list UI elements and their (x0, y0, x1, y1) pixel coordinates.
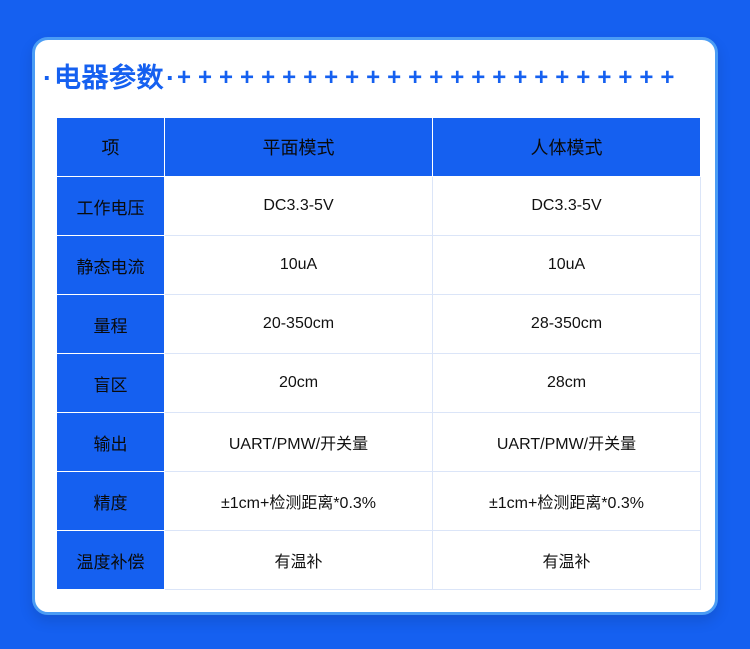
plus-icon: + (261, 66, 275, 90)
table-header-row: 项 平面模式 人体模式 (57, 118, 701, 177)
plus-icon: + (345, 66, 359, 90)
row-label-cell: 精度 (57, 472, 165, 531)
table-row: 量程20-350cm28-350cm (57, 295, 701, 354)
table-row: 温度补偿有温补有温补 (57, 531, 701, 590)
table-row: 工作电压DC3.3-5VDC3.3-5V (57, 177, 701, 236)
plus-icon: + (660, 66, 674, 90)
human-mode-value-cell: 28cm (433, 354, 701, 413)
plus-icon: + (429, 66, 443, 90)
human-mode-value-cell: ±1cm+检测距离*0.3% (433, 472, 701, 531)
plus-icon: + (198, 66, 212, 90)
column-header-item: 项 (57, 118, 165, 177)
human-mode-value-cell: DC3.3-5V (433, 177, 701, 236)
plane-mode-value-cell: 20-350cm (165, 295, 433, 354)
plus-decoration-strip: ++++++++++++++++++++++++ (177, 66, 715, 90)
table-row: 静态电流10uA10uA (57, 236, 701, 295)
human-mode-value-cell: UART/PMW/开关量 (433, 413, 701, 472)
human-mode-value-cell: 28-350cm (433, 295, 701, 354)
plane-mode-value-cell: 有温补 (165, 531, 433, 590)
human-mode-value-cell: 有温补 (433, 531, 701, 590)
plus-icon: + (513, 66, 527, 90)
plus-icon: + (597, 66, 611, 90)
row-label-cell: 静态电流 (57, 236, 165, 295)
card-title-row: · 电器参数 · ++++++++++++++++++++++++ (35, 58, 715, 98)
table-row: 盲区20cm28cm (57, 354, 701, 413)
plus-icon: + (219, 66, 233, 90)
plus-icon: + (282, 66, 296, 90)
plus-icon: + (387, 66, 401, 90)
plus-icon: + (177, 66, 191, 90)
row-label-cell: 量程 (57, 295, 165, 354)
column-header-plane-mode: 平面模式 (165, 118, 433, 177)
plane-mode-value-cell: 20cm (165, 354, 433, 413)
spec-table-body: 项 平面模式 人体模式 工作电压DC3.3-5VDC3.3-5V静态电流10uA… (57, 118, 701, 590)
table-row: 输出UART/PMW/开关量UART/PMW/开关量 (57, 413, 701, 472)
plus-icon: + (240, 66, 254, 90)
page-title: 电器参数 (54, 65, 164, 92)
plus-icon: + (534, 66, 548, 90)
spec-table: 项 平面模式 人体模式 工作电压DC3.3-5VDC3.3-5V静态电流10uA… (56, 117, 701, 590)
row-label-cell: 温度补偿 (57, 531, 165, 590)
title-leading-dot-icon: · (35, 65, 54, 92)
spec-card: · 电器参数 · ++++++++++++++++++++++++ 项 平面模式… (32, 37, 718, 615)
row-label-cell: 输出 (57, 413, 165, 472)
plus-icon: + (555, 66, 569, 90)
plus-icon: + (408, 66, 422, 90)
row-label-cell: 盲区 (57, 354, 165, 413)
plane-mode-value-cell: UART/PMW/开关量 (165, 413, 433, 472)
plus-icon: + (639, 66, 653, 90)
plus-icon: + (471, 66, 485, 90)
plane-mode-value-cell: DC3.3-5V (165, 177, 433, 236)
row-label-cell: 工作电压 (57, 177, 165, 236)
table-row: 精度±1cm+检测距离*0.3%±1cm+检测距离*0.3% (57, 472, 701, 531)
plus-icon: + (450, 66, 464, 90)
human-mode-value-cell: 10uA (433, 236, 701, 295)
plane-mode-value-cell: ±1cm+检测距离*0.3% (165, 472, 433, 531)
column-header-human-mode: 人体模式 (433, 118, 701, 177)
plane-mode-value-cell: 10uA (165, 236, 433, 295)
plus-icon: + (366, 66, 380, 90)
plus-icon: + (576, 66, 590, 90)
plus-icon: + (324, 66, 338, 90)
plus-icon: + (618, 66, 632, 90)
plus-icon: + (303, 66, 317, 90)
title-trailing-dot-icon: · (164, 65, 177, 92)
plus-icon: + (492, 66, 506, 90)
